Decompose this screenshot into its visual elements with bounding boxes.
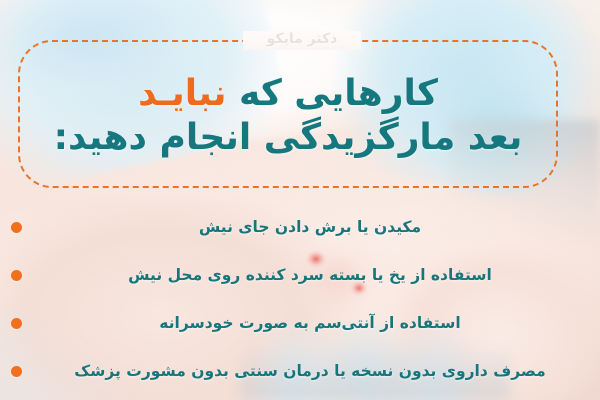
list-item-label: استفاده از آنتی‌سم به صورت خودسرانه	[0, 314, 600, 332]
infographic-poster: دکتر مایکو کارهایی که نبایـد بعد مارگزید…	[0, 0, 600, 400]
page-title: کارهایی که نبایـد بعد مارگزیدگی انجام ده…	[18, 52, 558, 180]
page-title-line-1-teal: کارهایی که	[226, 73, 437, 114]
page-title-line-2: بعد مارگزیدگی انجام دهید:	[54, 117, 523, 159]
bullet-dot-icon	[11, 222, 22, 233]
page-title-line-1-accent: نبایـد	[138, 73, 226, 114]
warnings-list: مکیدن یا برش دادن جای نیش استفاده از یخ …	[0, 205, 600, 385]
watermark-brand: دکتر مایکو	[243, 27, 361, 51]
bullet-dot-icon	[11, 270, 22, 281]
list-item-label: مصرف داروی بدون نسخه یا درمان سنتی بدون …	[0, 362, 600, 380]
list-item: مکیدن یا برش دادن جای نیش	[0, 210, 600, 244]
page-title-line-1: کارهایی که نبایـد	[138, 73, 438, 115]
list-item-label: مکیدن یا برش دادن جای نیش	[0, 218, 600, 236]
list-item: مصرف داروی بدون نسخه یا درمان سنتی بدون …	[0, 354, 600, 388]
list-item: استفاده از آنتی‌سم به صورت خودسرانه	[0, 306, 600, 340]
list-item-label: استفاده از یخ یا بسته سرد کننده روی محل …	[0, 266, 600, 284]
bullet-dot-icon	[11, 318, 22, 329]
list-item: استفاده از یخ یا بسته سرد کننده روی محل …	[0, 258, 600, 292]
bullet-dot-icon	[11, 366, 22, 377]
